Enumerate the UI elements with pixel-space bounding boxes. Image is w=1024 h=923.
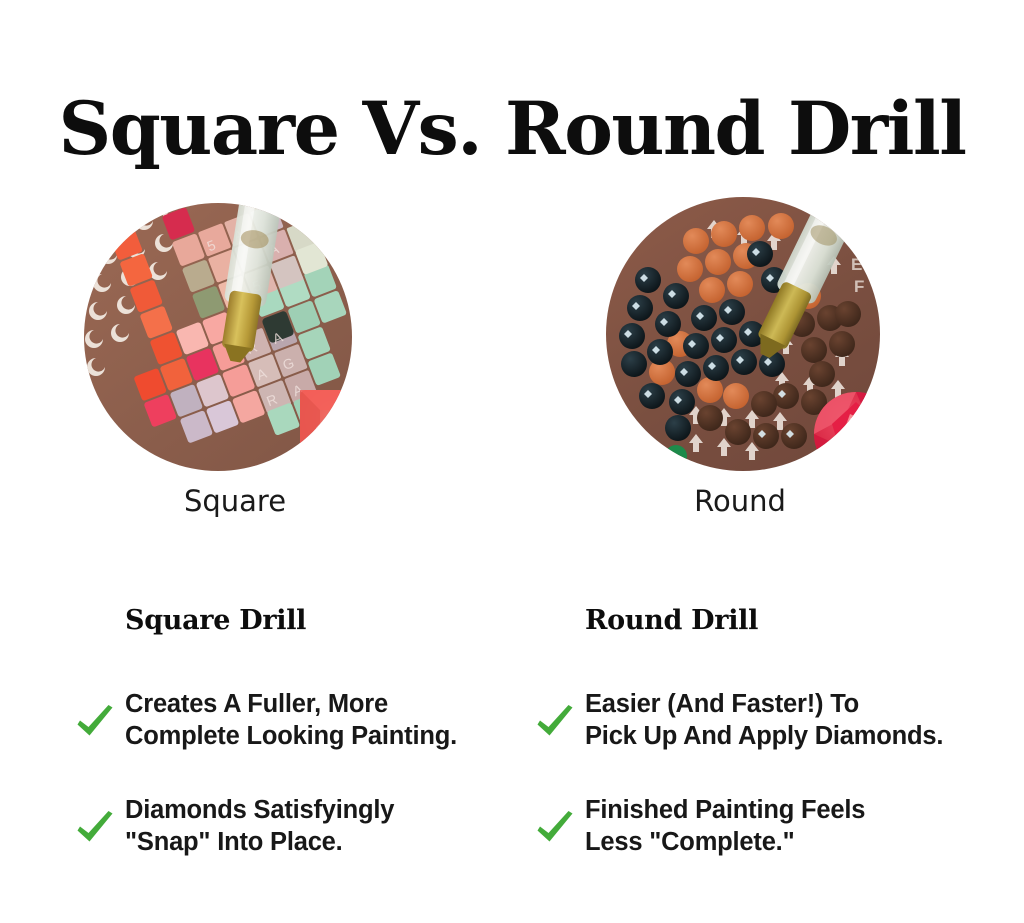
list-item: Creates A Fuller, More Complete Looking … — [75, 688, 525, 772]
round-drill-column: Round Drill Easier (And Faster!) To Pick… — [535, 606, 985, 900]
check-icon — [75, 808, 115, 848]
benefit-text: Creates A Fuller, More Complete Looking … — [125, 688, 525, 752]
square-drill-photo: R A R G A A 5 A 5 5 A — [70, 196, 430, 486]
list-item: Easier (And Faster!) To Pick Up And Appl… — [535, 688, 985, 772]
square-drill-heading: Square Drill — [125, 606, 525, 636]
round-drill-heading: Round Drill — [585, 606, 985, 636]
benefit-text: Finished Painting Feels Less "Complete." — [585, 794, 985, 858]
round-photo-caption: Round — [560, 486, 920, 518]
svg-text:E: E — [851, 255, 862, 274]
square-drill-column: Square Drill Creates A Fuller, More Comp… — [75, 606, 525, 900]
svg-text:F: F — [854, 277, 864, 296]
square-photo-caption: Square — [55, 486, 415, 518]
check-icon — [535, 702, 575, 742]
page-title: Square Vs. Round Drill — [0, 93, 1024, 166]
check-icon — [535, 808, 575, 848]
benefit-text: Diamonds Satisfyingly "Snap" Into Place. — [125, 794, 525, 858]
list-item: Finished Painting Feels Less "Complete." — [535, 794, 985, 878]
round-drill-photo: E F — [586, 196, 946, 486]
list-item: Diamonds Satisfyingly "Snap" Into Place. — [75, 794, 525, 878]
benefit-text: Easier (And Faster!) To Pick Up And Appl… — [585, 688, 985, 752]
check-icon — [75, 702, 115, 742]
